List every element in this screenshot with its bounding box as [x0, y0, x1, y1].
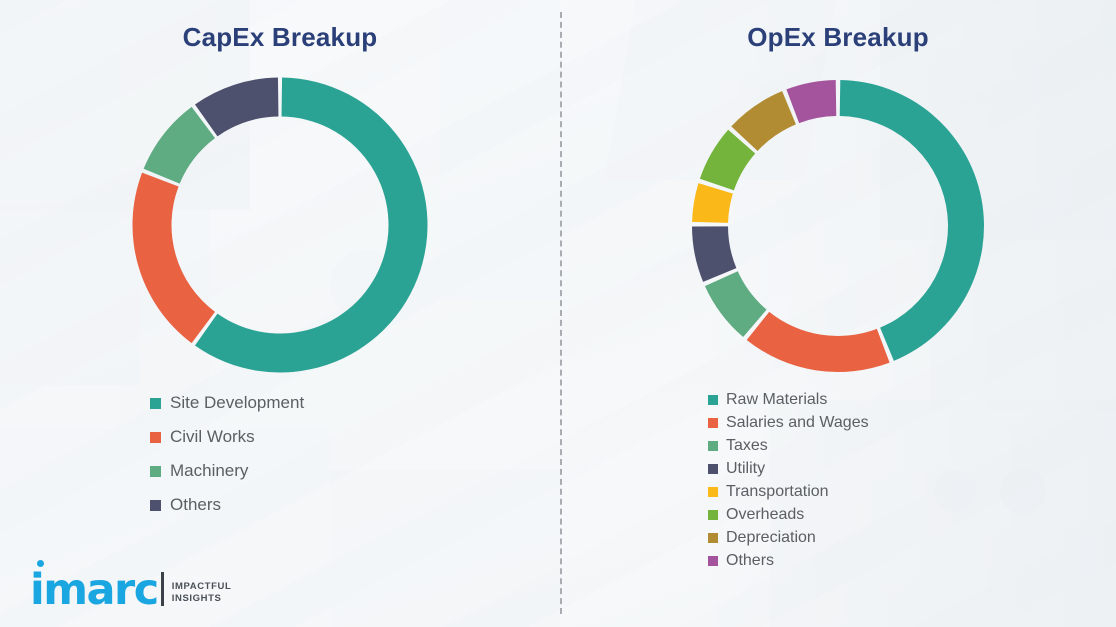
legend-color-swatch — [708, 395, 718, 405]
legend-color-swatch — [708, 441, 718, 451]
donut-slice[interactable] — [840, 80, 984, 361]
legend-item-label: Utility — [726, 460, 765, 478]
legend-item-label: Taxes — [726, 437, 768, 455]
legend-item[interactable]: Taxes — [708, 434, 988, 457]
donut-slice[interactable] — [195, 78, 279, 137]
logo-tagline-line1: IMPACTFUL — [172, 581, 232, 593]
logo-wordmark: imarc — [30, 572, 158, 609]
legend-color-swatch — [708, 418, 718, 428]
infographic-stage: CapEx Breakup Site DevelopmentCivil Work… — [0, 0, 1116, 627]
legend-color-swatch — [150, 500, 161, 511]
donut-slice[interactable] — [144, 107, 215, 184]
legend-item[interactable]: Salaries and Wages — [708, 411, 988, 434]
legend-color-swatch — [150, 466, 161, 477]
opex-donut-svg — [682, 70, 994, 382]
legend-color-swatch — [708, 533, 718, 543]
legend-item-label: Raw Materials — [726, 391, 827, 409]
opex-donut-chart — [682, 70, 994, 387]
legend-color-swatch — [150, 398, 161, 409]
legend-item[interactable]: Others — [150, 488, 430, 522]
legend-item[interactable]: Civil Works — [150, 420, 430, 454]
legend-item[interactable]: Site Development — [150, 386, 430, 420]
logo-divider-bar — [161, 572, 164, 606]
opex-chart-title: OpEx Breakup — [560, 22, 1116, 53]
legend-item-label: Machinery — [170, 461, 248, 481]
capex-legend: Site DevelopmentCivil WorksMachineryOthe… — [130, 386, 430, 522]
capex-chart-title: CapEx Breakup — [0, 22, 560, 53]
legend-color-swatch — [708, 464, 718, 474]
panel-divider — [560, 12, 562, 614]
opex-legend: Raw MaterialsSalaries and WagesTaxesUtil… — [688, 388, 988, 572]
legend-item[interactable]: Utility — [708, 457, 988, 480]
capex-donut-svg — [125, 72, 435, 378]
legend-item[interactable]: Overheads — [708, 503, 988, 526]
legend-item[interactable]: Depreciation — [708, 526, 988, 549]
opex-panel: OpEx Breakup Raw MaterialsSalaries and W… — [560, 0, 1116, 627]
legend-item-label: Overheads — [726, 506, 804, 524]
donut-slice[interactable] — [747, 312, 890, 372]
legend-item[interactable]: Transportation — [708, 480, 988, 503]
legend-item-label: Others — [170, 495, 221, 515]
capex-panel: CapEx Breakup Site DevelopmentCivil Work… — [0, 0, 560, 627]
imarc-logo: imarc IMPACTFUL INSIGHTS — [30, 572, 231, 609]
legend-color-swatch — [150, 432, 161, 443]
legend-color-swatch — [708, 556, 718, 566]
legend-item-label: Civil Works — [170, 427, 255, 447]
legend-item[interactable]: Others — [708, 549, 988, 572]
logo-tagline-line2: INSIGHTS — [172, 593, 232, 605]
donut-slice[interactable] — [692, 183, 733, 223]
legend-color-swatch — [708, 487, 718, 497]
donut-slice[interactable] — [692, 226, 736, 282]
logo-dot-icon — [37, 560, 44, 567]
donut-slice[interactable] — [786, 80, 836, 123]
legend-item-label: Transportation — [726, 483, 829, 501]
legend-item-label: Depreciation — [726, 529, 816, 547]
legend-item[interactable]: Raw Materials — [708, 388, 988, 411]
logo-tagline: IMPACTFUL INSIGHTS — [172, 581, 232, 605]
legend-item-label: Others — [726, 552, 774, 570]
donut-slice[interactable] — [132, 173, 215, 343]
legend-item-label: Site Development — [170, 393, 304, 413]
legend-item-label: Salaries and Wages — [726, 414, 869, 432]
capex-donut-chart — [125, 72, 435, 383]
legend-color-swatch — [708, 510, 718, 520]
legend-item[interactable]: Machinery — [150, 454, 430, 488]
